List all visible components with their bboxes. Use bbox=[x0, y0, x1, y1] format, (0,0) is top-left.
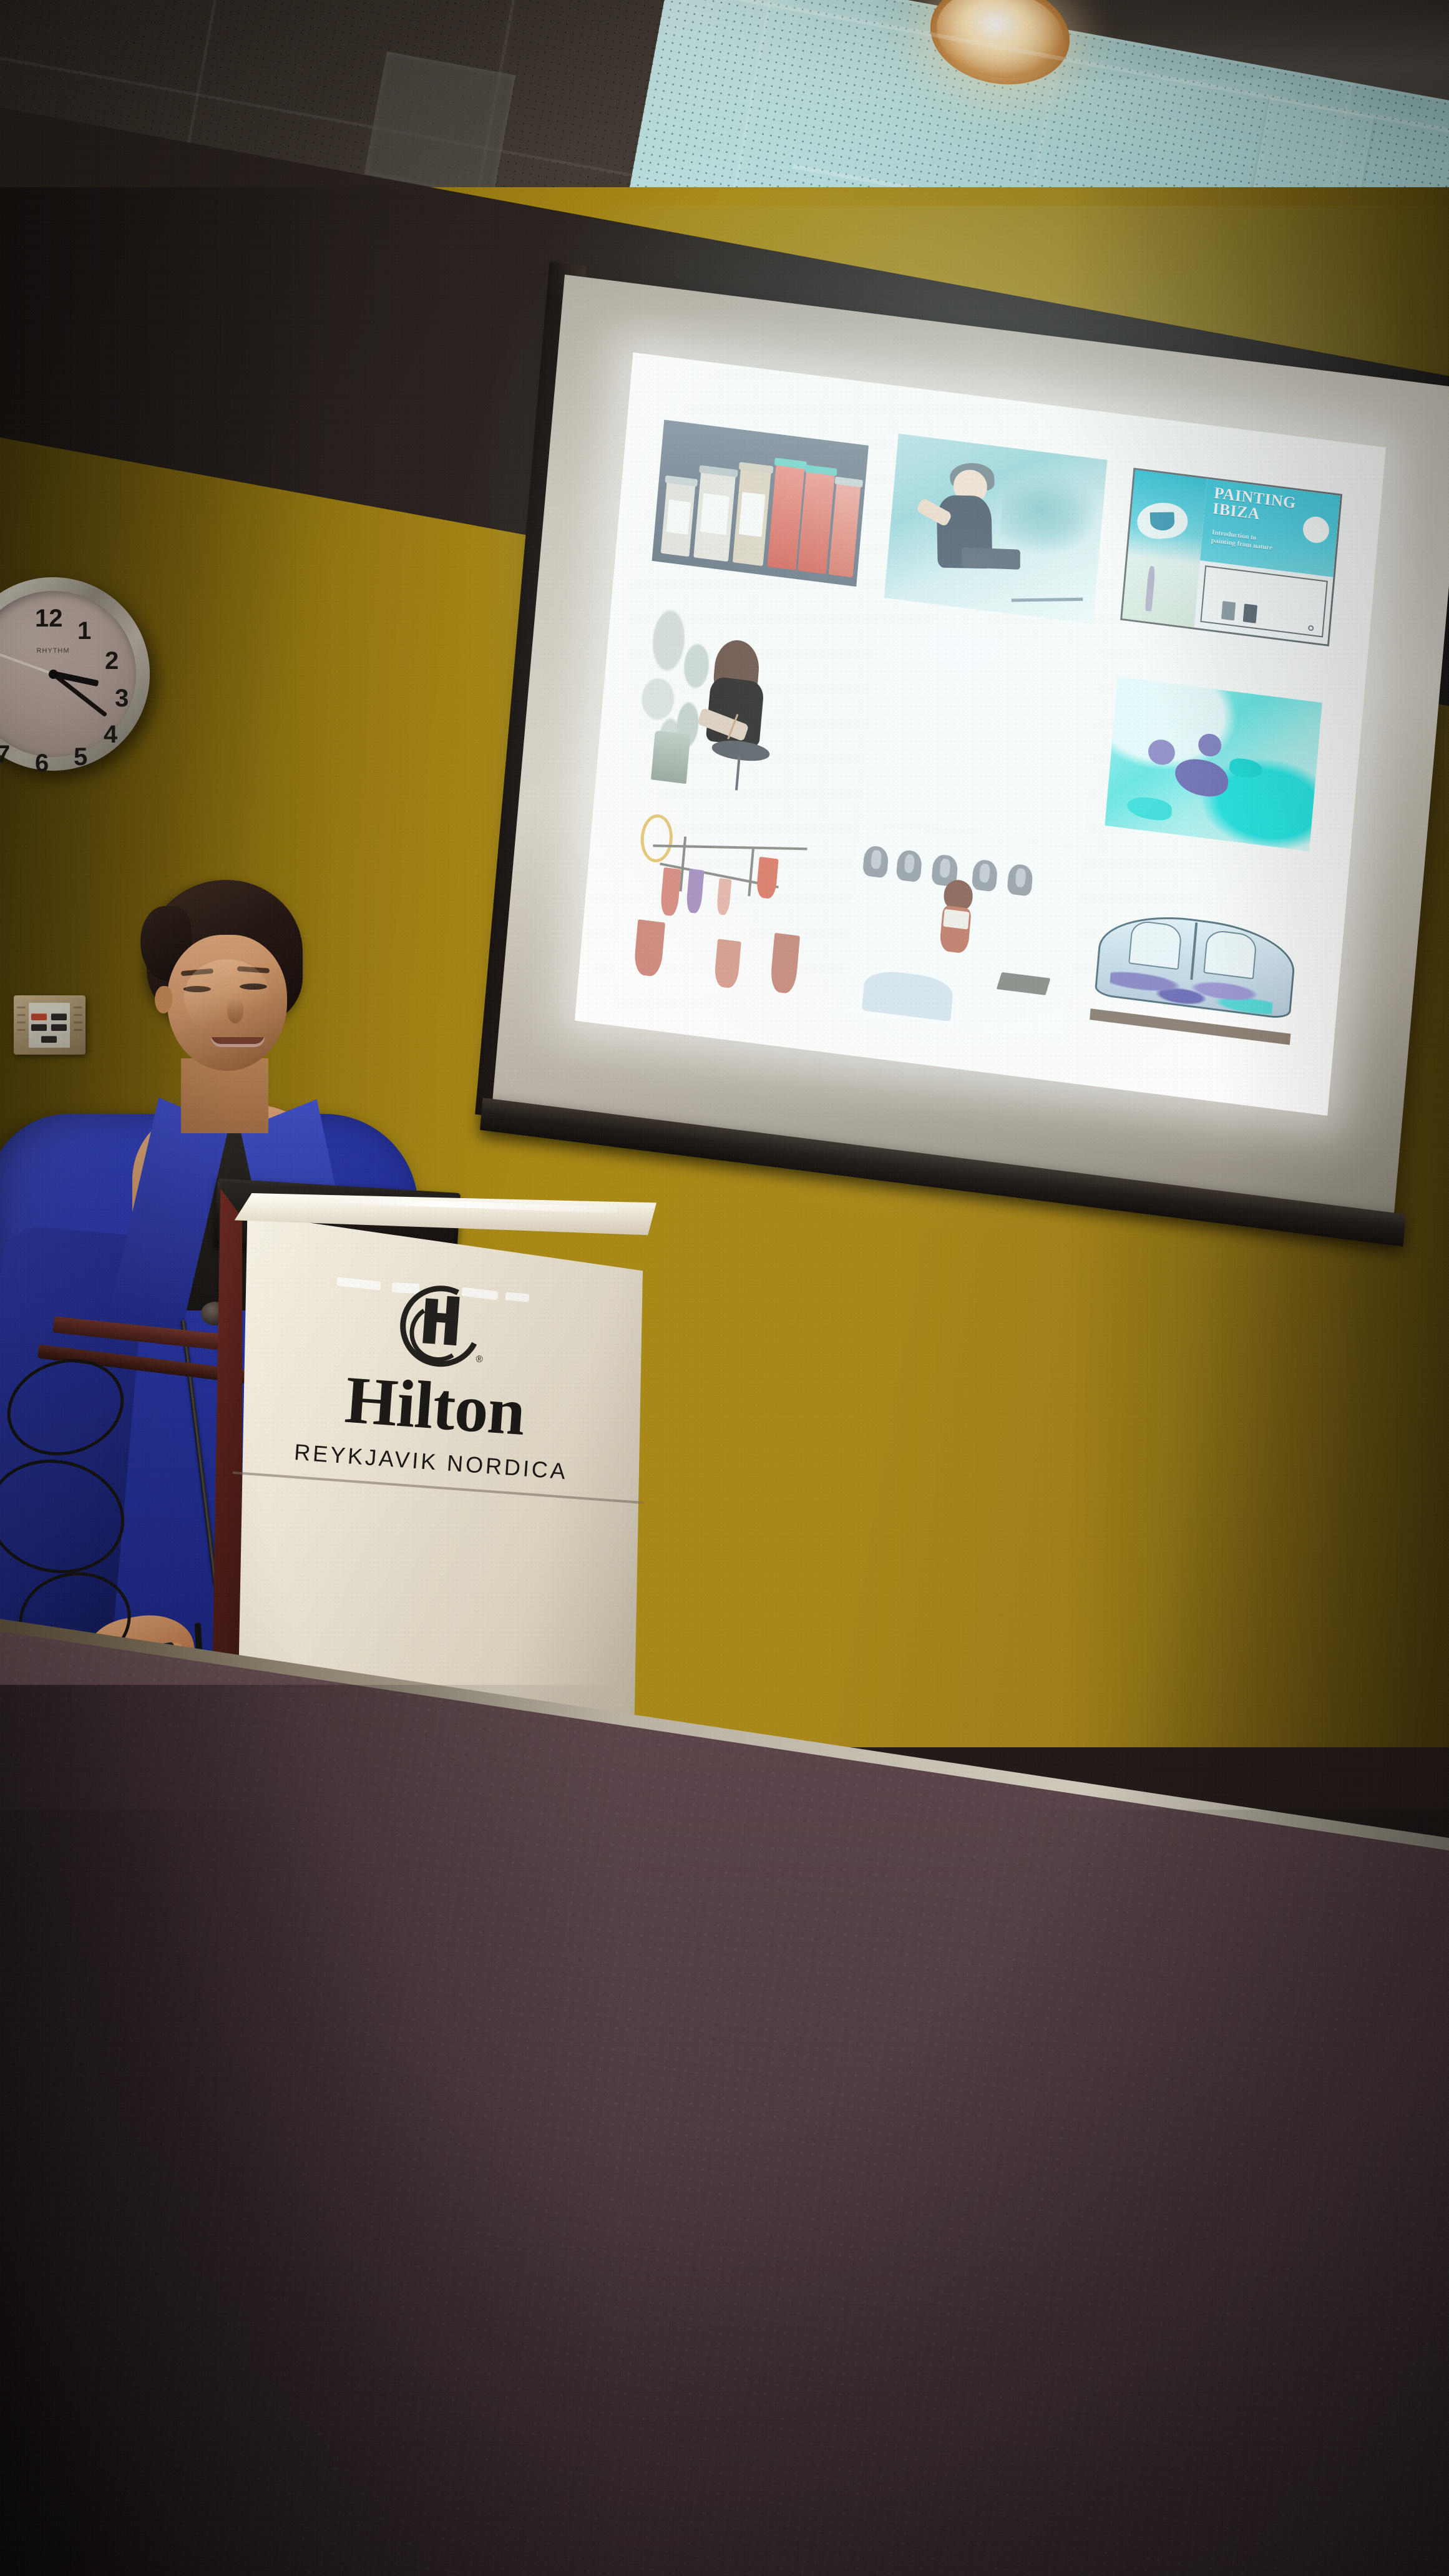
jar-cream bbox=[733, 466, 772, 566]
clock-numeral-5: 5 bbox=[74, 744, 87, 769]
jar-label-2 bbox=[700, 493, 730, 535]
slide-photo-market-stall bbox=[610, 796, 849, 1014]
hanging-textile-purple bbox=[686, 869, 705, 914]
ceiling-square-light-1 bbox=[364, 52, 516, 198]
book-swatch-2 bbox=[1242, 603, 1257, 623]
market-goods-bottom1 bbox=[633, 919, 665, 977]
book-front-cover: PAINTING IBIZA Introduction to painting … bbox=[1194, 479, 1340, 644]
speaker-eyebrow-left bbox=[181, 968, 213, 977]
painting-ibiza-book: PAINTING IBIZA Introduction to painting … bbox=[1121, 467, 1343, 646]
abstract-blob-4 bbox=[1229, 758, 1263, 779]
jar-lid-5 bbox=[804, 464, 837, 476]
stall-frame-post2 bbox=[748, 849, 754, 897]
hanging-textile-pink bbox=[716, 878, 732, 916]
clock-brand-label: RHYTHM bbox=[36, 647, 69, 655]
jar-white-2 bbox=[693, 470, 736, 562]
slide-photo-hanging-hats bbox=[844, 825, 1082, 1043]
abstract-painting bbox=[1105, 677, 1322, 851]
slide-photo-pigment-jars bbox=[645, 393, 884, 611]
hanging-hat-1 bbox=[862, 845, 889, 879]
jar-red-3 bbox=[828, 481, 861, 577]
speaker-nose bbox=[227, 998, 243, 1023]
projected-slide: PAINTING IBIZA Introduction to painting … bbox=[575, 353, 1386, 1116]
outdoor-scene-backdrop bbox=[884, 434, 1107, 624]
small-blue-car bbox=[1086, 882, 1307, 1046]
clock-numeral-4: 4 bbox=[104, 722, 117, 747]
abstract-blob-5 bbox=[1126, 796, 1173, 822]
painter-palette bbox=[962, 547, 1021, 569]
clock-numeral-6: 6 bbox=[35, 751, 49, 776]
speaker-ear bbox=[155, 986, 172, 1013]
speaker-eye-right bbox=[240, 983, 267, 990]
conference-room-photo: RHYTHM 12 1 2 3 4 5 6 7 bbox=[0, 0, 1449, 2576]
hanging-yellow-loop bbox=[638, 812, 675, 864]
hanging-textile-red1 bbox=[660, 867, 681, 917]
speaker-face bbox=[167, 935, 287, 1071]
clock-numeral-12: 12 bbox=[35, 606, 63, 631]
slide-photo-painter-outdoors bbox=[879, 422, 1117, 640]
jar-lid-6 bbox=[834, 477, 863, 488]
painter-brush-stick bbox=[1011, 598, 1082, 602]
hanging-textile-red2 bbox=[756, 857, 779, 899]
book-figure-shape bbox=[1145, 566, 1156, 612]
hanging-hat-4 bbox=[971, 859, 998, 892]
abstract-blob-3 bbox=[1174, 756, 1230, 799]
clock-numeral-2: 2 bbox=[105, 648, 119, 673]
jar-lid-2 bbox=[699, 466, 738, 478]
clock-numeral-7: 7 bbox=[0, 742, 10, 767]
speaker-eyebrow-right bbox=[237, 966, 270, 973]
floor-vignette bbox=[0, 1810, 1449, 2576]
clock-center-pin bbox=[49, 670, 58, 679]
slide-photo-easel-painter bbox=[628, 594, 866, 812]
jar-label-1 bbox=[666, 499, 691, 534]
easel-scene-backdrop bbox=[628, 594, 866, 812]
blown-out-area bbox=[861, 623, 1100, 842]
abstract-blob-1 bbox=[1148, 738, 1176, 767]
clock-face: RHYTHM 12 1 2 3 4 5 6 7 bbox=[0, 591, 136, 757]
market-scene bbox=[615, 800, 844, 1010]
book-back-cover bbox=[1123, 469, 1207, 627]
jar-lid-3 bbox=[739, 462, 774, 474]
stone-slab bbox=[997, 972, 1050, 995]
jar-label-3 bbox=[738, 492, 765, 537]
slide-photo-turquoise-abstract bbox=[1094, 653, 1332, 871]
hats-scene bbox=[844, 825, 1082, 1043]
book-lower-panel bbox=[1200, 565, 1327, 637]
book-swatch-1 bbox=[1221, 601, 1236, 621]
slide-photo-book-cover: PAINTING IBIZA Introduction to painting … bbox=[1112, 451, 1350, 670]
clock-numeral-3: 3 bbox=[115, 686, 129, 711]
seated-figure-shirt bbox=[944, 909, 970, 929]
jar-lid-1 bbox=[665, 476, 698, 487]
book-boat-shape bbox=[1149, 512, 1175, 530]
jar-white-1 bbox=[661, 480, 696, 557]
easel-stand-leg bbox=[735, 756, 741, 791]
speaker-smile bbox=[211, 1037, 265, 1047]
slide-photo-painted-car bbox=[1076, 855, 1315, 1073]
jar-lid-4 bbox=[774, 458, 807, 469]
clock-second-hand bbox=[0, 652, 54, 675]
white-vehicle bbox=[862, 968, 954, 1022]
foliage bbox=[998, 461, 1102, 561]
market-goods-bottom3 bbox=[769, 933, 800, 995]
stall-frame-top bbox=[653, 844, 807, 850]
abstract-blob-2 bbox=[1198, 733, 1222, 758]
speaker-eye-left bbox=[183, 986, 211, 992]
pull-down-projection-screen[interactable]: PAINTING IBIZA Introduction to painting … bbox=[492, 275, 1449, 1215]
market-goods-bottom2 bbox=[714, 939, 741, 989]
potted-plant bbox=[651, 730, 691, 784]
jars-backdrop bbox=[652, 420, 869, 587]
book-corner-dot bbox=[1308, 625, 1314, 631]
hanging-hat-2 bbox=[895, 849, 922, 883]
slide-photo-blank bbox=[861, 623, 1100, 842]
clock-numeral-1: 1 bbox=[77, 618, 91, 643]
slide-photo-grid: PAINTING IBIZA Introduction to painting … bbox=[610, 393, 1350, 1073]
hanging-hat-5 bbox=[1007, 863, 1033, 897]
